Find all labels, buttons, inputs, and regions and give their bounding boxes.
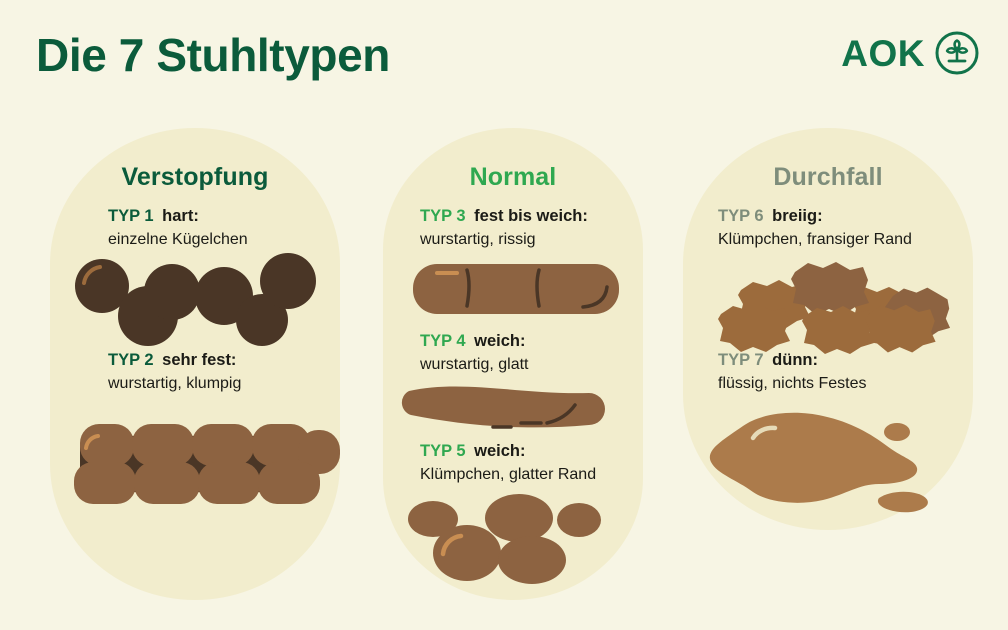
type-desc-typ5: Klümpchen, glatter Rand xyxy=(420,464,596,486)
type-label-typ5: weich: xyxy=(474,442,525,460)
column-heading-normal: Normal xyxy=(383,163,643,192)
type-title-typ2: TYP 2 sehr fest: xyxy=(108,350,241,371)
type-label-typ3: fest bis weich: xyxy=(474,207,588,225)
illustration-separate-hard-lumps xyxy=(72,253,322,348)
illustration-lumpy-sausage xyxy=(72,418,322,508)
illustration-ragged-mushy-pieces xyxy=(703,258,958,353)
type-block-typ2: TYP 2 sehr fest: wurstartig, klumpig xyxy=(108,350,241,394)
type-desc-typ3: wurstartig, rissig xyxy=(420,229,588,251)
type-title-typ4: TYP 4 weich: xyxy=(420,331,528,352)
column-heading-durchfall: Durchfall xyxy=(683,163,973,192)
type-label-typ7: dünn: xyxy=(772,351,818,369)
type-number-typ2: TYP 2 xyxy=(108,351,154,369)
type-number-typ7: TYP 7 xyxy=(718,351,764,369)
type-title-typ6: TYP 6 breiig: xyxy=(718,206,912,227)
type-label-typ6: breiig: xyxy=(772,207,822,225)
type-label-typ4: weich: xyxy=(474,332,525,350)
type-block-typ7: TYP 7 dünn: flüssig, nichts Festes xyxy=(718,350,867,394)
plant-in-circle-icon xyxy=(934,30,980,76)
aok-wordmark: AOK xyxy=(841,35,925,72)
illustration-soft-blobs xyxy=(401,496,615,586)
type-title-typ3: TYP 3 fest bis weich: xyxy=(420,206,588,227)
type-desc-typ7: flüssig, nichts Festes xyxy=(718,373,867,395)
type-block-typ1: TYP 1 hart: einzelne Kügelchen xyxy=(108,206,248,250)
page-title: Die 7 Stuhltypen xyxy=(36,28,390,82)
type-number-typ6: TYP 6 xyxy=(718,207,764,225)
type-title-typ5: TYP 5 weich: xyxy=(420,441,596,462)
type-desc-typ6: Klümpchen, fransiger Rand xyxy=(718,229,912,251)
type-desc-typ2: wurstartig, klumpig xyxy=(108,373,241,395)
type-number-typ1: TYP 1 xyxy=(108,207,154,225)
type-desc-typ1: einzelne Kügelchen xyxy=(108,229,248,251)
type-number-typ3: TYP 3 xyxy=(420,207,466,225)
illustration-smooth-sausage xyxy=(403,381,623,441)
type-block-typ3: TYP 3 fest bis weich: wurstartig, rissig xyxy=(420,206,588,250)
column-durchfall: Durchfall TYP 6 breiig: Klümpchen, frans… xyxy=(683,128,973,530)
type-label-typ1: hart: xyxy=(162,207,199,225)
column-normal: Normal TYP 3 fest bis weich: wurstartig,… xyxy=(383,128,643,600)
infographic-page: Die 7 Stuhltypen AOK Verstopfung TYP 1 h… xyxy=(0,0,1008,630)
type-label-typ2: sehr fest: xyxy=(162,351,236,369)
aok-logo: AOK xyxy=(841,30,980,76)
type-number-typ4: TYP 4 xyxy=(420,332,466,350)
type-block-typ4: TYP 4 weich: wurstartig, glatt xyxy=(420,331,528,375)
type-block-typ6: TYP 6 breiig: Klümpchen, fransiger Rand xyxy=(718,206,912,250)
type-title-typ1: TYP 1 hart: xyxy=(108,206,248,227)
type-title-typ7: TYP 7 dünn: xyxy=(718,350,867,371)
header: Die 7 Stuhltypen AOK xyxy=(0,0,1008,118)
column-verstopfung: Verstopfung TYP 1 hart: einzelne Kügelch… xyxy=(50,128,340,600)
illustration-cracked-sausage xyxy=(411,260,623,322)
type-desc-typ4: wurstartig, glatt xyxy=(420,354,528,376)
type-block-typ5: TYP 5 weich: Klümpchen, glatter Rand xyxy=(420,441,596,485)
type-number-typ5: TYP 5 xyxy=(420,442,466,460)
column-heading-verstopfung: Verstopfung xyxy=(50,163,340,192)
illustration-liquid-puddle xyxy=(701,410,956,520)
